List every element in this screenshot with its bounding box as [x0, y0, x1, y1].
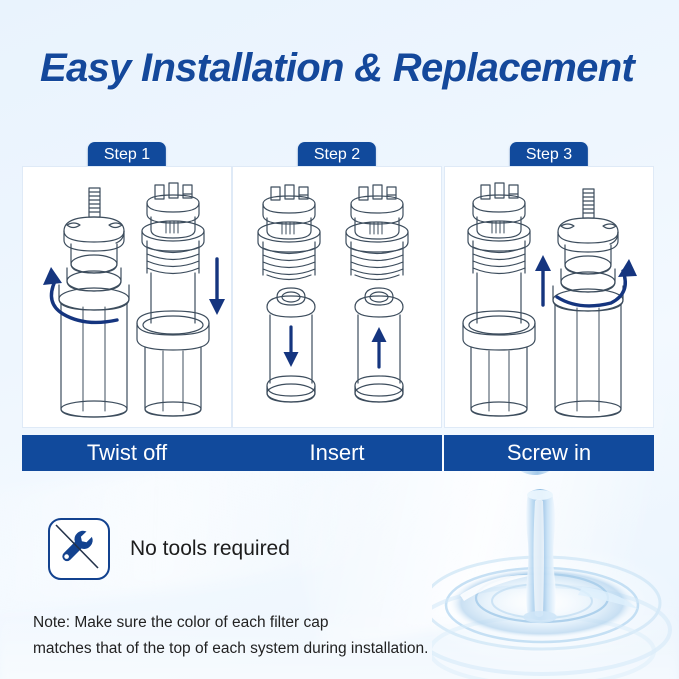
step-label-3: Screw in: [444, 435, 654, 471]
wrench-crossed-out-icon: [48, 518, 110, 580]
step-badge-3: Step 3: [510, 142, 588, 168]
step-label-1: Twist off: [22, 435, 232, 471]
promo-graphic: Easy Installation & Replacement Step 1: [0, 0, 679, 679]
step-illustration-3: [444, 166, 654, 428]
note-line-2: matches that of the top of each system d…: [33, 636, 428, 662]
no-tools-required-label: No tools required: [130, 537, 290, 561]
water-droplet-splash-image: [432, 455, 679, 679]
step-label-2: Insert: [232, 435, 442, 471]
installation-note: Note: Make sure the color of each filter…: [33, 610, 428, 662]
page-title: Easy Installation & Replacement: [40, 46, 660, 91]
note-line-1: Note: Make sure the color of each filter…: [33, 610, 428, 636]
step-illustration-1: [22, 166, 232, 428]
step-badge-1: Step 1: [88, 142, 166, 168]
no-tools-required-row: No tools required: [48, 518, 290, 580]
step-illustration-2: [232, 166, 442, 428]
step-badge-2: Step 2: [298, 142, 376, 168]
